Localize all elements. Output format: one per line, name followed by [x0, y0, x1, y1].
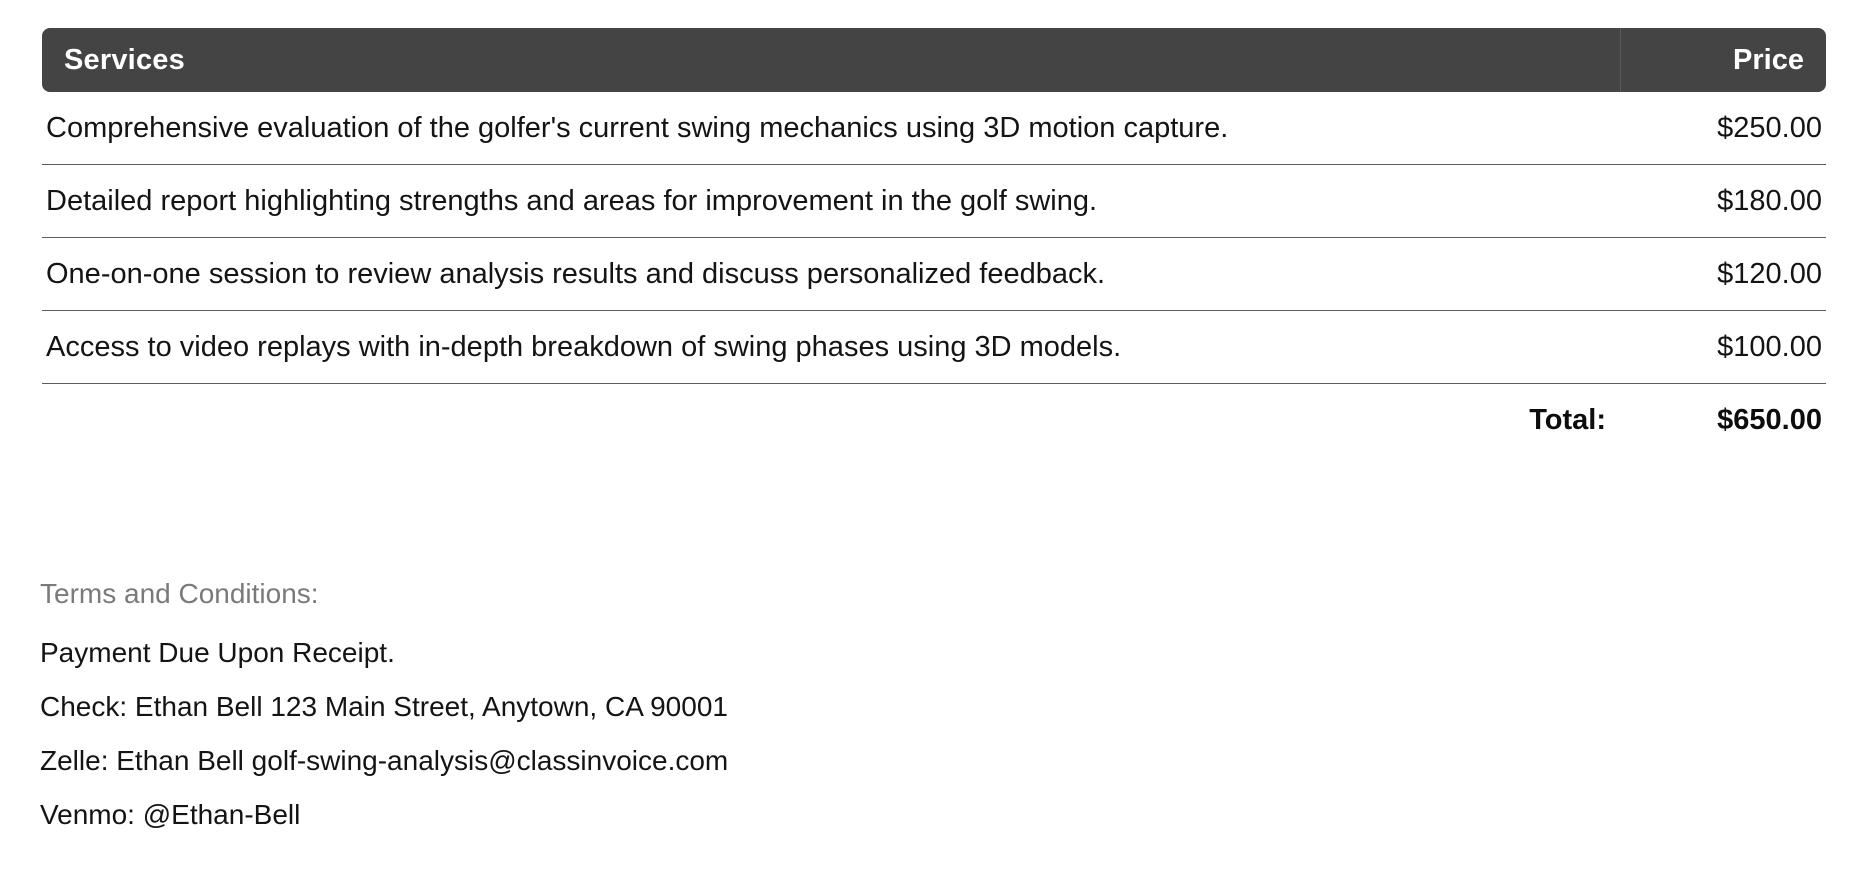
service-price: $250.00 — [1592, 112, 1826, 145]
table-header-row: Services Price — [42, 28, 1826, 92]
service-price: $180.00 — [1592, 185, 1826, 218]
table-row: Comprehensive evaluation of the golfer's… — [42, 92, 1826, 165]
table-total-row: Total: $650.00 — [42, 384, 1826, 456]
table-row: Detailed report highlighting strengths a… — [42, 165, 1826, 238]
total-label: Total: — [1529, 404, 1672, 437]
service-description: One-on-one session to review analysis re… — [42, 258, 1592, 291]
invoice-services-section: Services Price Comprehensive evaluation … — [0, 0, 1868, 870]
column-header-services: Services — [42, 28, 1621, 92]
service-description: Detailed report highlighting strengths a… — [42, 185, 1592, 218]
services-price-table: Services Price Comprehensive evaluation … — [42, 28, 1826, 456]
service-description: Access to video replays with in-depth br… — [42, 331, 1592, 364]
total-amount: $650.00 — [1672, 404, 1826, 437]
terms-line-payment-due: Payment Due Upon Receipt. — [40, 626, 1540, 680]
terms-line-zelle: Zelle: Ethan Bell golf-swing-analysis@cl… — [40, 734, 1540, 788]
table-row: Access to video replays with in-depth br… — [42, 311, 1826, 384]
service-price: $120.00 — [1592, 258, 1826, 291]
terms-line-check: Check: Ethan Bell 123 Main Street, Anyto… — [40, 680, 1540, 734]
table-row: One-on-one session to review analysis re… — [42, 238, 1826, 311]
terms-line-venmo: Venmo: @Ethan-Bell — [40, 788, 1540, 842]
terms-title: Terms and Conditions: — [40, 578, 1540, 610]
terms-and-conditions-block: Terms and Conditions: Payment Due Upon R… — [40, 578, 1540, 842]
column-header-price: Price — [1621, 28, 1826, 92]
service-description: Comprehensive evaluation of the golfer's… — [42, 112, 1592, 145]
service-price: $100.00 — [1592, 331, 1826, 364]
